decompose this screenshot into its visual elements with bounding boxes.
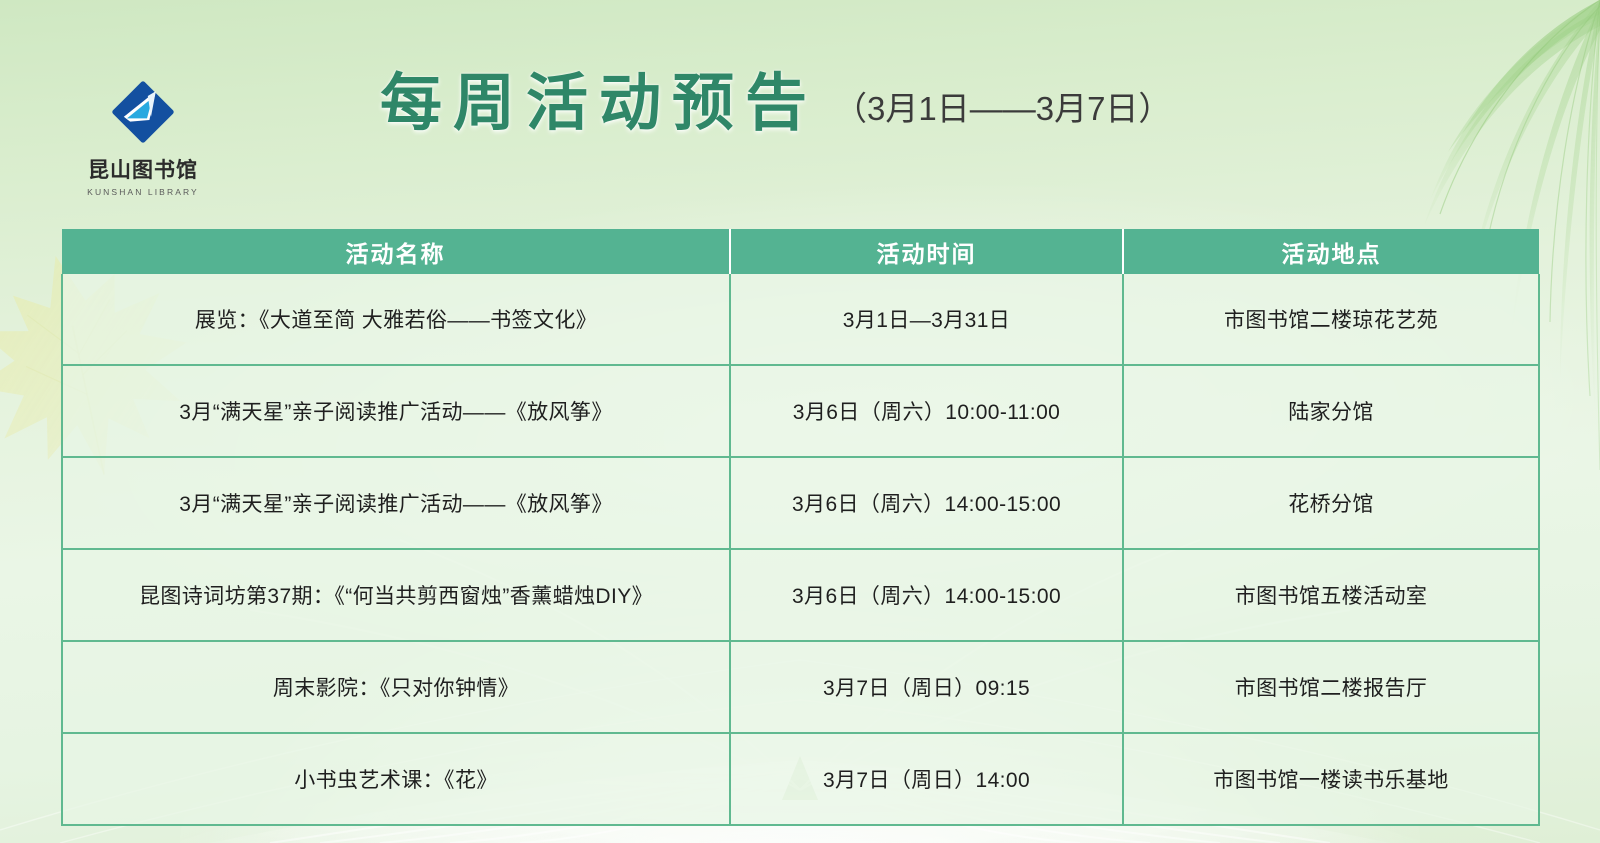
- cell-activity-place: 市图书馆一楼读书乐基地: [1123, 733, 1539, 825]
- table-row: 3月“满天星”亲子阅读推广活动——《放风筝》 3月6日（周六）14:00-15:…: [62, 457, 1539, 549]
- date-range-label: （3月1日——3月7日）: [834, 92, 1171, 125]
- table-row: 小书虫艺术课：《花》 3月7日（周日）14:00 市图书馆一楼读书乐基地: [62, 733, 1539, 825]
- cell-activity-place: 市图书馆二楼琼花艺苑: [1123, 274, 1539, 365]
- library-name-cn: 昆山图书馆: [78, 154, 208, 184]
- cell-activity-time: 3月7日（周日）09:15: [730, 641, 1123, 733]
- poster-header: 昆山图书馆 KUNSHAN LIBRARY 每周活动预告 （3月1日——3月7日…: [0, 0, 1600, 210]
- column-header-activity-time: 活动时间: [730, 229, 1123, 274]
- cell-activity-place: 花桥分馆: [1123, 457, 1539, 549]
- cell-activity-place: 市图书馆二楼报告厅: [1123, 641, 1539, 733]
- cell-activity-name: 3月“满天星”亲子阅读推广活动——《放风筝》: [62, 457, 730, 549]
- cell-activity-time: 3月6日（周六）14:00-15:00: [730, 457, 1123, 549]
- schedule-table-container: 活动名称 活动时间 活动地点 展览：《大道至简 大雅若俗——书签文化》 3月1日…: [61, 229, 1538, 826]
- title-group: 每周活动预告 （3月1日——3月7日）: [380, 72, 1171, 134]
- table-row: 3月“满天星”亲子阅读推广活动——《放风筝》 3月6日（周六）10:00-11:…: [62, 365, 1539, 457]
- cell-activity-place: 陆家分馆: [1123, 365, 1539, 457]
- table-row: 昆图诗词坊第37期：《“何当共剪西窗烛”香薰蜡烛DIY》 3月6日（周六）14:…: [62, 549, 1539, 641]
- cell-activity-time: 3月7日（周日）14:00: [730, 733, 1123, 825]
- library-logo: 昆山图书馆 KUNSHAN LIBRARY: [78, 72, 208, 197]
- cell-activity-time: 3月6日（周六）10:00-11:00: [730, 365, 1123, 457]
- column-header-activity-place: 活动地点: [1123, 229, 1539, 274]
- column-header-activity-name: 活动名称: [62, 229, 730, 274]
- cell-activity-name: 昆图诗词坊第37期：《“何当共剪西窗烛”香薰蜡烛DIY》: [62, 549, 730, 641]
- cell-activity-time: 3月1日—3月31日: [730, 274, 1123, 365]
- cell-activity-name: 展览：《大道至简 大雅若俗——书签文化》: [62, 274, 730, 365]
- table-row: 周末影院：《只对你钟情》 3月7日（周日）09:15 市图书馆二楼报告厅: [62, 641, 1539, 733]
- cell-activity-name: 3月“满天星”亲子阅读推广活动——《放风筝》: [62, 365, 730, 457]
- table-header-row: 活动名称 活动时间 活动地点: [62, 229, 1539, 274]
- page-title: 每周活动预告: [380, 72, 818, 134]
- table-body: 展览：《大道至简 大雅若俗——书签文化》 3月1日—3月31日 市图书馆二楼琼花…: [62, 274, 1539, 825]
- cell-activity-name: 小书虫艺术课：《花》: [62, 733, 730, 825]
- library-name-en: KUNSHAN LIBRARY: [78, 187, 208, 197]
- poster-canvas: 昆山图书馆 KUNSHAN LIBRARY 每周活动预告 （3月1日——3月7日…: [0, 0, 1600, 843]
- kunshan-library-diamond-logo-icon: [103, 72, 183, 152]
- cell-activity-place: 市图书馆五楼活动室: [1123, 549, 1539, 641]
- cell-activity-name: 周末影院：《只对你钟情》: [62, 641, 730, 733]
- cell-activity-time: 3月6日（周六）14:00-15:00: [730, 549, 1123, 641]
- table-header: 活动名称 活动时间 活动地点: [62, 229, 1539, 274]
- table-row: 展览：《大道至简 大雅若俗——书签文化》 3月1日—3月31日 市图书馆二楼琼花…: [62, 274, 1539, 365]
- schedule-table: 活动名称 活动时间 活动地点 展览：《大道至简 大雅若俗——书签文化》 3月1日…: [61, 229, 1540, 826]
